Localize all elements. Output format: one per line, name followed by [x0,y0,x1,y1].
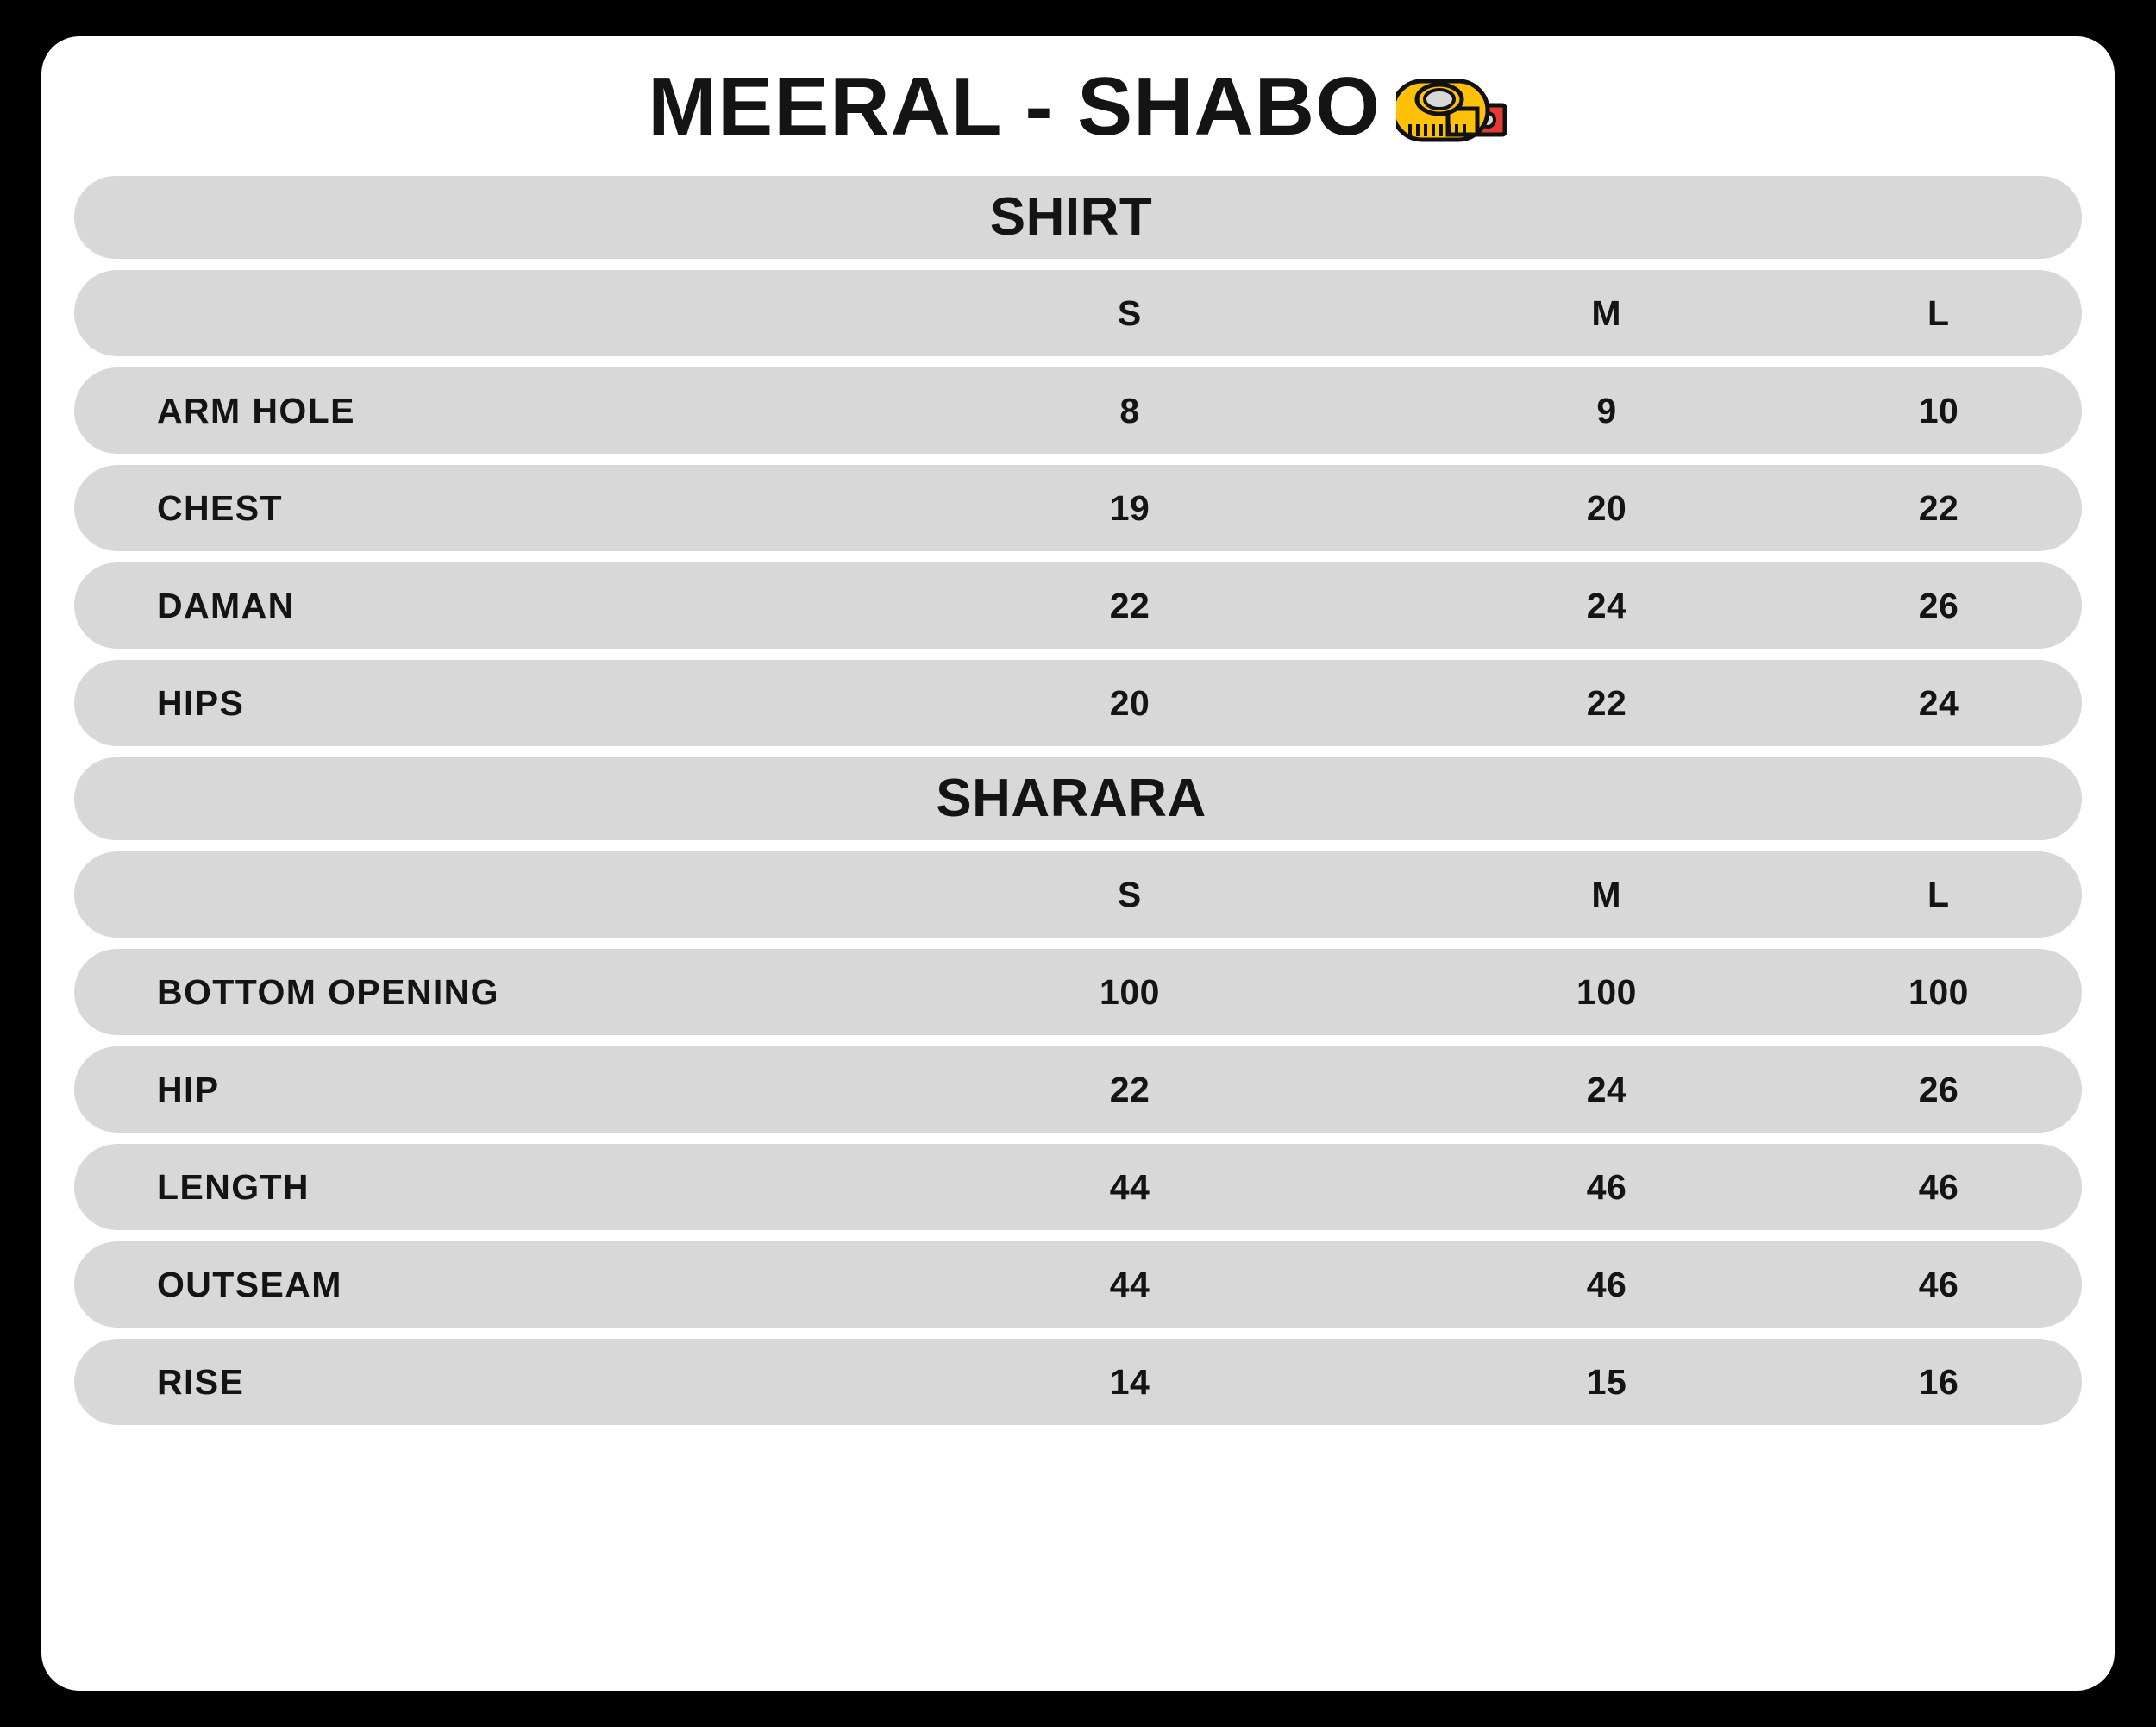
measurement-label: ARM HOLE [74,393,902,429]
size-column-header-row: SML [74,270,2082,356]
measurement-label: CHEST [74,491,902,526]
table-row: OUTSEAM444646 [74,1241,2082,1328]
measurement-value: 44 [902,1267,1357,1303]
measurement-value: 22 [902,1072,1357,1108]
measurement-value: 22 [902,588,1357,624]
measurement-value: 100 [1357,975,1856,1010]
measurement-value: 24 [1357,588,1856,624]
size-column-header: S [902,877,1357,913]
table-row: LENGTH444646 [74,1144,2082,1230]
size-column-header: L [1856,296,2082,331]
measurement-value: 22 [1856,491,2082,526]
page-title: MEERAL - SHABO [648,66,1381,148]
section-header-shirt: SHIRT [74,176,2082,259]
measurement-value: 44 [902,1170,1357,1205]
size-column-header: S [902,296,1357,331]
measurement-value: 46 [1856,1170,2082,1205]
measurement-label: HIP [74,1072,902,1108]
measurement-label: LENGTH [74,1170,902,1205]
size-column-header: L [1856,877,2082,913]
section-header-sharara: SHARARA [74,757,2082,840]
measurement-value: 22 [1357,686,1856,721]
tape-measure-emoji [1396,74,1508,150]
measurement-value: 8 [902,393,1357,429]
measurement-value: 16 [1856,1365,2082,1400]
table-row: ARM HOLE8910 [74,367,2082,454]
measurement-value: 46 [1357,1267,1856,1303]
measurement-value: 46 [1856,1267,2082,1303]
measurement-value: 24 [1357,1072,1856,1108]
size-chart-card: MEERAL - SHABO [41,36,2115,1691]
measurement-label: BOTTOM OPENING [74,975,902,1010]
table-row: HIPS202224 [74,660,2082,746]
section-title: SHARARA [936,772,1206,826]
section-title: SHIRT [990,191,1153,244]
measurement-value: 26 [1856,1072,2082,1108]
measurement-label: HIPS [74,686,902,721]
measurement-value: 20 [902,686,1357,721]
table-row: RISE141516 [74,1339,2082,1425]
table-row: BOTTOM OPENING100100100 [74,949,2082,1035]
size-table: SHIRTSMLARM HOLE8910CHEST192022DAMAN2224… [41,166,2115,1425]
measurement-value: 10 [1856,393,2082,429]
measurement-value: 14 [902,1365,1357,1400]
table-row: CHEST192022 [74,465,2082,551]
measurement-value: 100 [1856,975,2082,1010]
table-row: HIP222426 [74,1046,2082,1133]
page-root: MEERAL - SHABO [0,0,2156,1727]
measurement-label: DAMAN [74,588,902,624]
measurement-value: 24 [1856,686,2082,721]
size-column-header-row: SML [74,851,2082,938]
measurement-value: 9 [1357,393,1856,429]
measurement-value: 20 [1357,491,1856,526]
measurement-value: 100 [902,975,1357,1010]
size-column-header: M [1357,296,1856,331]
measurement-label: OUTSEAM [74,1267,902,1303]
measurement-value: 15 [1357,1365,1856,1400]
chart-title-bar: MEERAL - SHABO [41,36,2115,166]
size-column-header: M [1357,877,1856,913]
measurement-value: 26 [1856,588,2082,624]
table-row: DAMAN222426 [74,562,2082,649]
measurement-value: 19 [902,491,1357,526]
measurement-value: 46 [1357,1170,1856,1205]
measurement-label: RISE [74,1365,902,1400]
